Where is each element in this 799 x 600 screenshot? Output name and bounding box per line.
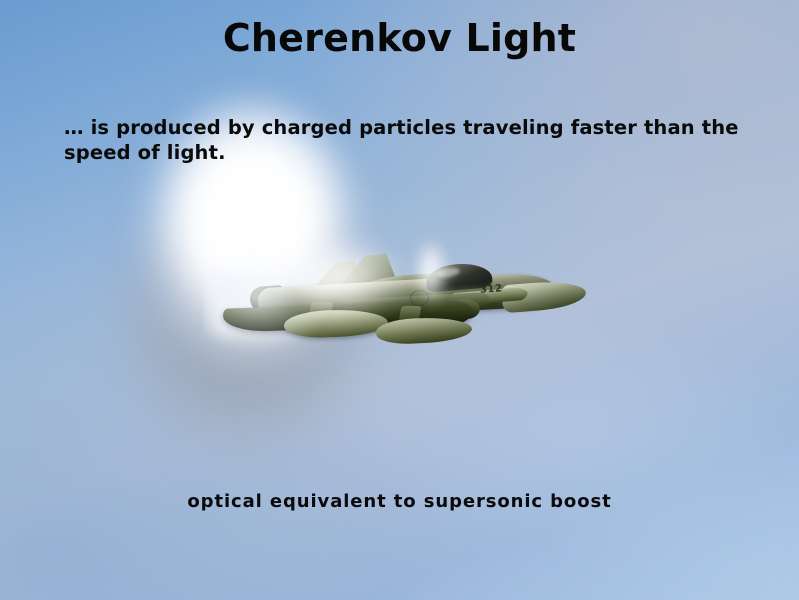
slide-body-text: … is produced by charged particles trave… — [64, 116, 776, 166]
jet-tail-number: 312 — [480, 283, 503, 296]
vapor-shock-plume — [408, 228, 454, 306]
presentation-slide: 312 Cherenkov Light … is produced by cha… — [0, 0, 799, 600]
slide-caption: optical equivalent to supersonic boost — [0, 491, 799, 512]
page-title: Cherenkov Light — [0, 17, 799, 60]
